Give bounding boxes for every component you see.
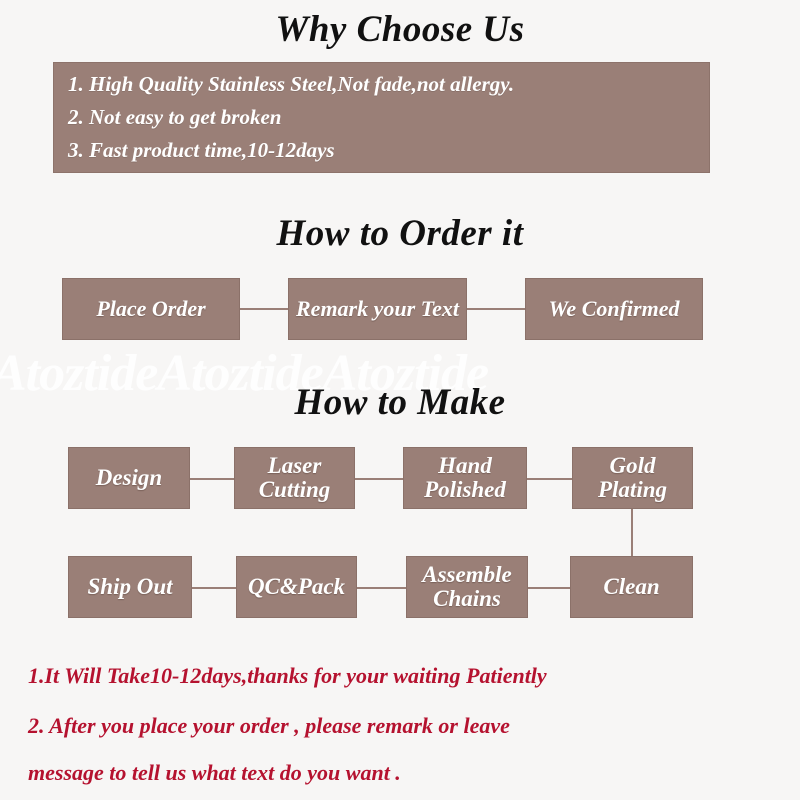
section-title-why-choose-us: Why Choose Us (0, 8, 800, 51)
make-connector-r2-1 (190, 587, 238, 589)
order-step-label: Remark your Text (292, 298, 463, 321)
make-step-label: Laser Cutting (235, 454, 354, 502)
make-step-label: Assemble Chains (407, 563, 527, 611)
make-step-label: Gold Plating (573, 454, 692, 502)
product-description-page: AtoztideAtoztideAtoztide Why Choose Us 1… (0, 0, 800, 800)
make-step-laser-cutting: Laser Cutting (234, 447, 355, 509)
order-step-place-order: Place Order (62, 278, 240, 340)
make-step-ship-out: Ship Out (68, 556, 192, 618)
make-connector-vertical (631, 508, 633, 558)
order-step-label: We Confirmed (545, 298, 684, 321)
order-note-line-2: 2. After you place your order , please r… (28, 713, 510, 739)
make-step-label: Design (92, 466, 166, 490)
make-step-label: Clean (599, 575, 663, 599)
why-choose-us-panel: 1. High Quality Stainless Steel,Not fade… (53, 62, 710, 173)
order-connector-2 (465, 308, 527, 310)
make-step-qc-pack: QC&Pack (236, 556, 357, 618)
make-connector-r1-1 (188, 478, 236, 480)
order-connector-1 (238, 308, 290, 310)
order-step-label: Place Order (92, 298, 209, 321)
make-connector-r1-2 (353, 478, 405, 480)
make-step-hand-polished: Hand Polished (403, 447, 527, 509)
section-title-how-to-order: How to Order it (0, 212, 800, 255)
make-step-gold-plating: Gold Plating (572, 447, 693, 509)
section-title-how-to-make: How to Make (0, 381, 800, 424)
make-step-label: QC&Pack (244, 575, 349, 599)
order-step-we-confirmed: We Confirmed (525, 278, 703, 340)
order-step-remark-your-text: Remark your Text (288, 278, 467, 340)
make-connector-r2-3 (526, 587, 572, 589)
make-step-label: Ship Out (83, 575, 176, 599)
make-step-design: Design (68, 447, 190, 509)
why-choose-us-line-2: 2. Not easy to get broken (68, 101, 709, 134)
make-connector-r1-3 (525, 478, 574, 480)
order-note-line-3: message to tell us what text do you want… (28, 760, 401, 786)
make-step-label: Hand Polished (404, 454, 526, 502)
make-step-clean: Clean (570, 556, 693, 618)
order-note-line-1: 1.It Will Take10-12days,thanks for your … (28, 663, 547, 689)
why-choose-us-line-1: 1. High Quality Stainless Steel,Not fade… (68, 68, 709, 101)
make-step-assemble-chains: Assemble Chains (406, 556, 528, 618)
make-connector-r2-2 (355, 587, 408, 589)
why-choose-us-line-3: 3. Fast product time,10-12days (68, 134, 709, 167)
